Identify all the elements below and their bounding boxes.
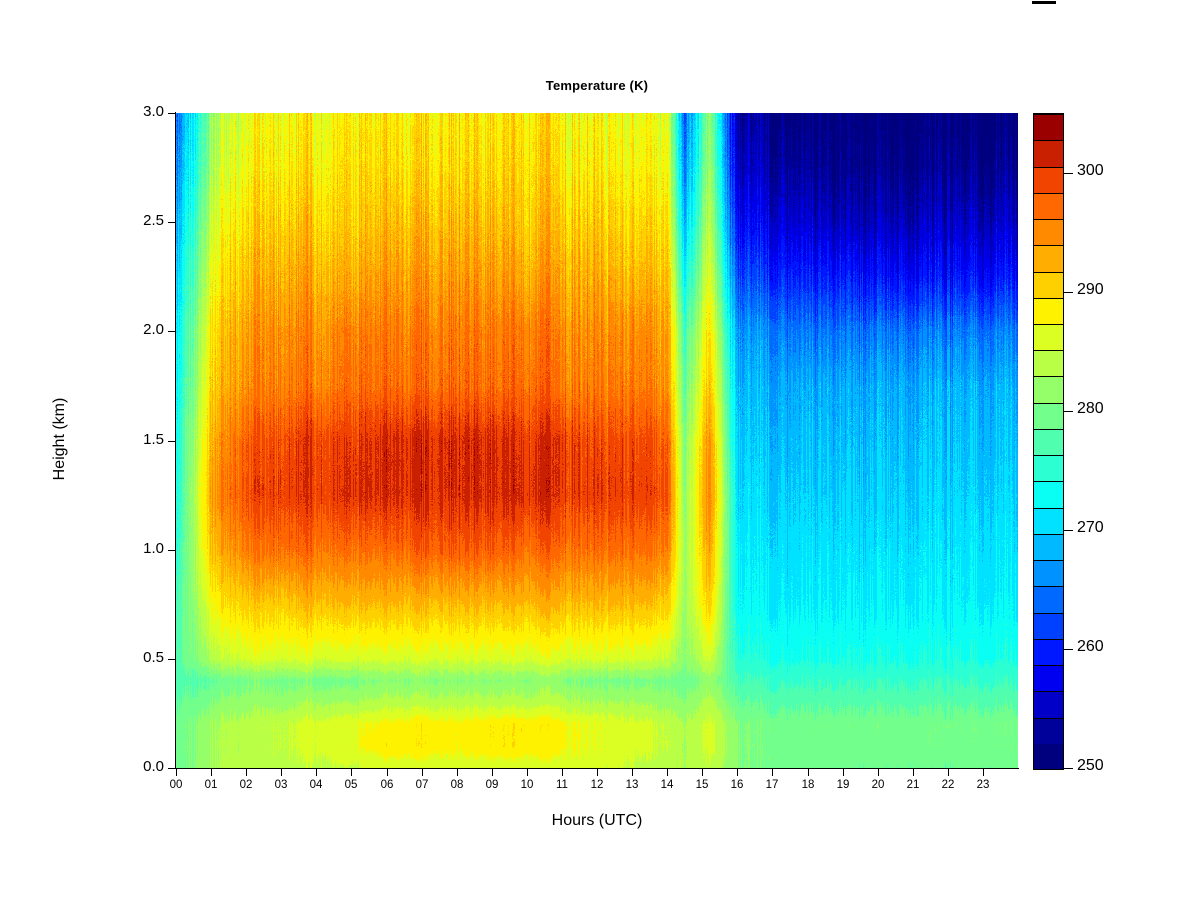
- x-axis-tick-label: 03: [266, 779, 296, 791]
- y-axis-tick-label: 2.0: [108, 321, 164, 338]
- colorbar-cell: [1034, 613, 1063, 639]
- x-axis-tick-label: 19: [828, 779, 858, 791]
- x-axis-tick-label: 14: [652, 779, 682, 791]
- x-axis-tick: [457, 769, 458, 776]
- x-axis-tick-label: 01: [196, 779, 226, 791]
- x-axis-tick: [808, 769, 809, 776]
- x-axis-tick: [351, 769, 352, 776]
- x-axis-tick: [597, 769, 598, 776]
- heatmap-canvas: [176, 113, 1018, 768]
- y-axis-tick-label: 1.0: [108, 540, 164, 557]
- x-axis-tick: [211, 769, 212, 776]
- colorbar-cell: [1034, 376, 1063, 402]
- x-axis-tick-label: 09: [477, 779, 507, 791]
- colorbar-tick-label: 260: [1077, 638, 1104, 656]
- y-axis-tick: [168, 222, 175, 223]
- colorbar-tick: [1064, 649, 1073, 650]
- x-axis-tick-label: 08: [442, 779, 472, 791]
- colorbar-cell: [1034, 718, 1063, 744]
- x-axis-tick: [492, 769, 493, 776]
- x-axis-tick: [246, 769, 247, 776]
- y-axis-tick-label: 1.5: [108, 431, 164, 448]
- x-axis-tick-label: 16: [722, 779, 752, 791]
- colorbar-cell: [1034, 219, 1063, 245]
- colorbar-tick-label: 290: [1077, 281, 1104, 299]
- y-axis-tick: [168, 113, 175, 114]
- colorbar-cell: [1034, 455, 1063, 481]
- colorbar-cell: [1034, 114, 1063, 140]
- page-title: Temperature (K): [0, 78, 1197, 93]
- colorbar-cell: [1034, 272, 1063, 298]
- colorbar-cell: [1034, 586, 1063, 612]
- y-axis-tick-label: 0.0: [108, 758, 164, 775]
- colorbar-tick: [1064, 411, 1073, 412]
- colorbar-cell: [1034, 429, 1063, 455]
- colorbar-cell: [1034, 691, 1063, 717]
- colorbar-cell: [1034, 508, 1063, 534]
- x-axis-tick-label: 22: [933, 779, 963, 791]
- colorbar-tick-label: 300: [1077, 162, 1104, 180]
- x-axis-tick: [281, 769, 282, 776]
- colorbar-cell: [1034, 481, 1063, 507]
- colorbar-cell: [1034, 167, 1063, 193]
- x-axis-tick-label: 11: [547, 779, 577, 791]
- x-axis-tick-label: 21: [898, 779, 928, 791]
- y-axis-tick-label: 2.5: [108, 212, 164, 229]
- x-axis-tick-label: 02: [231, 779, 261, 791]
- x-axis-title: Hours (UTC): [176, 812, 1018, 830]
- x-axis-tick: [527, 769, 528, 776]
- colorbar-cell: [1034, 193, 1063, 219]
- x-axis-tick: [316, 769, 317, 776]
- x-axis-tick-label: 04: [301, 779, 331, 791]
- x-axis-tick-label: 00: [161, 779, 191, 791]
- x-axis-tick-label: 06: [372, 779, 402, 791]
- colorbar-tick: [1064, 173, 1073, 174]
- x-axis-tick: [948, 769, 949, 776]
- colorbar-cell: [1034, 298, 1063, 324]
- x-axis-tick-label: 10: [512, 779, 542, 791]
- top-edge-artifact: [1032, 1, 1056, 4]
- x-axis-tick: [176, 769, 177, 776]
- x-axis-tick-label: 18: [793, 779, 823, 791]
- x-axis-tick: [667, 769, 668, 776]
- colorbar-tick: [1064, 292, 1073, 293]
- x-axis-tick-label: 07: [407, 779, 437, 791]
- x-axis-tick: [562, 769, 563, 776]
- colorbar-cell: [1034, 534, 1063, 560]
- colorbar-tick-label: 270: [1077, 519, 1104, 537]
- colorbar-cell: [1034, 140, 1063, 166]
- x-axis-tick-label: 13: [617, 779, 647, 791]
- temperature-time-height-figure: Temperature (K) 0.00.51.01.52.02.53.0 00…: [0, 0, 1200, 900]
- x-axis-tick-label: 20: [863, 779, 893, 791]
- x-axis-tick: [843, 769, 844, 776]
- x-axis-tick-label: 12: [582, 779, 612, 791]
- y-axis-tick: [168, 768, 175, 769]
- colorbar-cell: [1034, 639, 1063, 665]
- y-axis-tick: [168, 550, 175, 551]
- x-axis-tick: [772, 769, 773, 776]
- colorbar-tick: [1064, 530, 1073, 531]
- colorbar-tick-label: 250: [1077, 757, 1104, 775]
- colorbar-cell: [1034, 560, 1063, 586]
- x-axis-tick: [983, 769, 984, 776]
- x-axis-tick-label: 17: [757, 779, 787, 791]
- y-axis-tick: [168, 331, 175, 332]
- heatmap-plot-area: [176, 113, 1018, 768]
- colorbar-tick-label: 280: [1077, 400, 1104, 418]
- x-axis-tick: [632, 769, 633, 776]
- x-axis-tick: [737, 769, 738, 776]
- x-axis-tick-label: 15: [687, 779, 717, 791]
- colorbar-cell: [1034, 744, 1063, 769]
- colorbar-cell: [1034, 665, 1063, 691]
- x-axis-tick-label: 05: [336, 779, 366, 791]
- y-axis-tick-label: 3.0: [108, 103, 164, 120]
- colorbar-tick: [1064, 768, 1073, 769]
- x-axis-tick: [878, 769, 879, 776]
- x-axis-tick: [913, 769, 914, 776]
- colorbar-cell: [1034, 350, 1063, 376]
- colorbar: [1033, 113, 1064, 770]
- colorbar-cell: [1034, 324, 1063, 350]
- x-axis-tick: [702, 769, 703, 776]
- y-axis-tick: [168, 441, 175, 442]
- y-axis-tick-label: 0.5: [108, 649, 164, 666]
- colorbar-cell: [1034, 403, 1063, 429]
- y-axis-tick: [168, 659, 175, 660]
- x-axis-tick: [387, 769, 388, 776]
- y-axis-title: Height (km): [51, 339, 69, 539]
- x-axis-tick: [422, 769, 423, 776]
- x-axis-tick-label: 23: [968, 779, 998, 791]
- colorbar-cell: [1034, 245, 1063, 271]
